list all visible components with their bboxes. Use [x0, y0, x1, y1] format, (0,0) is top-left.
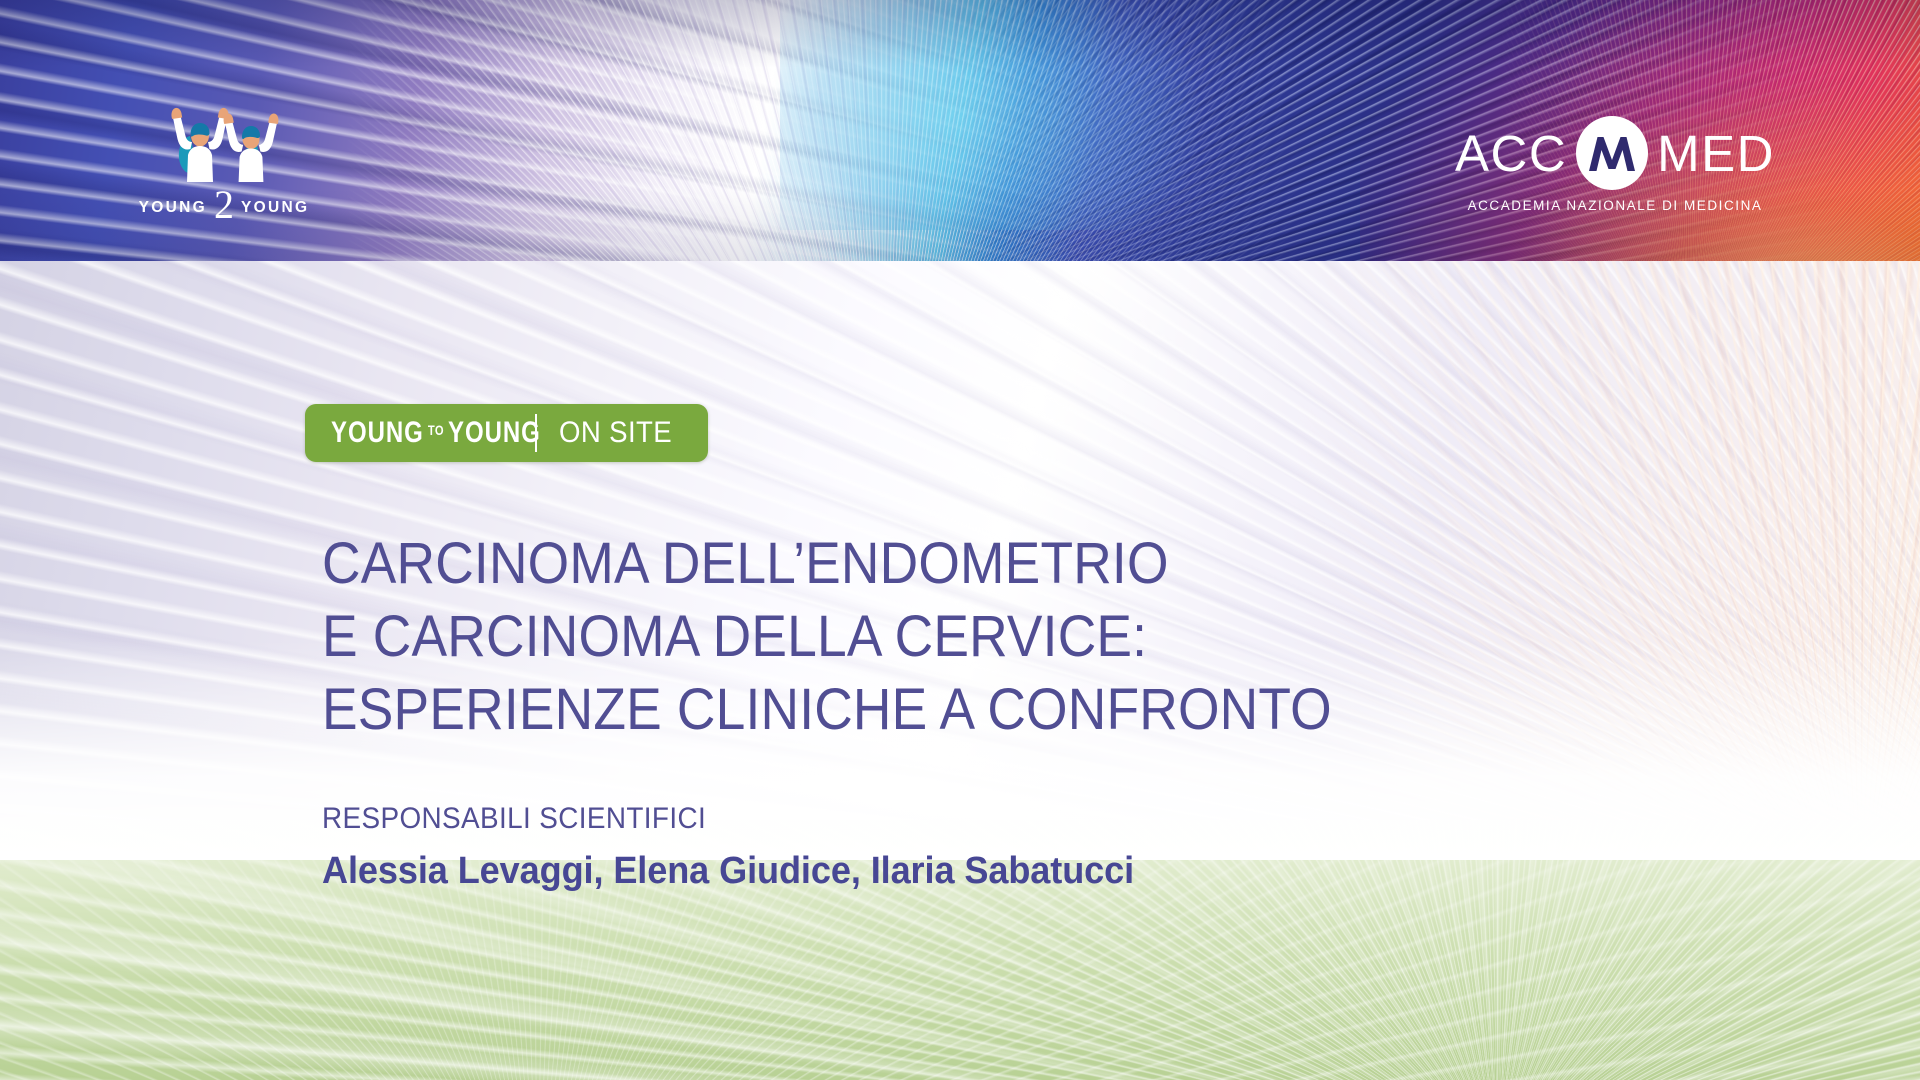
title-line-1: CARCINOMA DELL’ENDOMETRIO	[322, 527, 1564, 600]
y2y-right-word: YOUNG	[241, 199, 309, 216]
young-2-young-wordmark: YOUNG2YOUNG	[134, 175, 314, 222]
badge-to-text: TO	[428, 422, 444, 438]
presentation-slide: YOUNG2YOUNG ACC MED ACCADEMIA NAZIONALE …	[0, 0, 1920, 1080]
young-2-young-logo[interactable]: YOUNG2YOUNG	[134, 92, 314, 222]
header-banner: YOUNG2YOUNG ACC MED ACCADEMIA NAZIONALE …	[0, 0, 1920, 261]
title-line-2: E CARCINOMA DELLA CERVICE:	[322, 600, 1564, 673]
young-to-young-on-site-badge[interactable]: YOUNGTOYOUNG ON SITE	[305, 404, 708, 462]
accmed-subtitle: ACCADEMIA NAZIONALE DI MEDICINA	[1455, 198, 1775, 213]
accmed-med-text: MED	[1657, 128, 1775, 179]
scientific-leads-names: Alessia Levaggi, Elena Giudice, Ilaria S…	[322, 847, 1462, 895]
accmed-monogram-icon	[1576, 116, 1648, 190]
title-line-3: ESPERIENZE CLINICHE A CONFRONTO	[322, 673, 1564, 746]
scientific-leads-block: RESPONSABILI SCIENTIFICI Alessia Levaggi…	[322, 800, 1522, 895]
accmed-acc-text: ACC	[1455, 128, 1567, 179]
page-title: CARCINOMA DELL’ENDOMETRIO E CARCINOMA DE…	[322, 527, 1564, 746]
double-m-icon	[1586, 133, 1638, 173]
y2y-left-word: YOUNG	[139, 199, 207, 216]
badge-on-site-label: ON SITE	[559, 416, 672, 450]
accmed-wordmark: ACC MED	[1455, 118, 1775, 188]
accmed-logo[interactable]: ACC MED ACCADEMIA NAZIONALE DI MEDICINA	[1455, 118, 1775, 230]
scientific-leads-label: RESPONSABILI SCIENTIFICI	[322, 800, 1438, 838]
badge-young-to-young-label: YOUNGTOYOUNG	[331, 416, 541, 450]
y2y-number-2: 2	[214, 181, 234, 228]
